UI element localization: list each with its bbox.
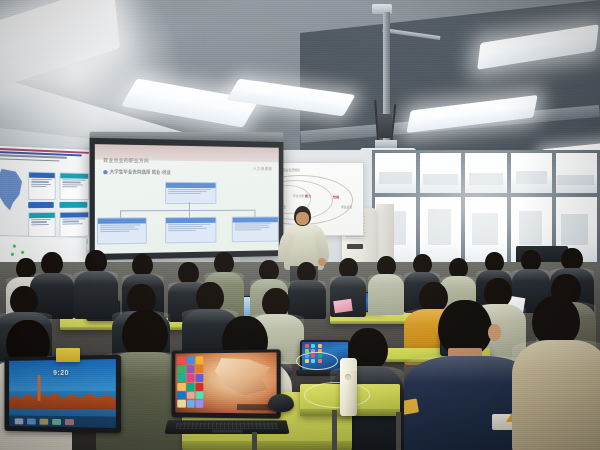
classroom-scene: 职业生涯规划 价值观 兴趣爱好 能力 性格 环境分析 自我认知 目标设定 行动计… (0, 0, 600, 450)
slide-connector (189, 210, 190, 217)
yellow-box-item (56, 348, 80, 362)
whiteboard-red-label: 能力 (305, 193, 311, 198)
student-khaki-shirt (512, 296, 600, 450)
slide-child-box (232, 216, 279, 242)
desk-leg (332, 410, 337, 450)
poster-box-header (29, 173, 55, 179)
coiled-cable (304, 382, 370, 408)
student-back (368, 256, 404, 314)
thermos-cap (340, 358, 357, 371)
slide-child-box (97, 217, 147, 244)
slide-connector (120, 210, 255, 211)
slide-box-header (233, 217, 278, 222)
slide-box-header (166, 183, 215, 188)
magnet-icon (13, 245, 16, 248)
laptop-base (164, 420, 289, 434)
desktop-icons[interactable] (178, 356, 203, 408)
slide-connector (120, 210, 121, 217)
projection-screen: 就业创业的职业方向 人力资源部 大学生毕业去向选择 就业·创业 (90, 138, 284, 260)
window-pane (556, 153, 597, 193)
desk-leg (396, 412, 401, 450)
bullet-icon (103, 170, 107, 174)
slide-root-box (165, 182, 216, 204)
poster-bar (59, 202, 87, 208)
slide-title: 就业创业的职业方向 (103, 158, 149, 165)
laptop-screen: 9:20 (9, 359, 116, 428)
slide-connector (189, 202, 190, 210)
taskbar[interactable] (9, 415, 116, 427)
magnet-icon (21, 251, 24, 254)
poster-box (28, 212, 55, 239)
slide-connector (255, 210, 256, 217)
slide-box-header (98, 218, 146, 223)
slide-child-box (165, 217, 216, 244)
laptop-keyboard[interactable] (175, 423, 278, 429)
poster-map-graphic (0, 169, 23, 211)
computer-mouse[interactable] (268, 394, 294, 412)
window-pane (511, 153, 552, 193)
presentation-slide: 就业创业的职业方向 人力资源部 大学生毕业去向选择 就业·创业 (95, 144, 279, 254)
whiteboard-red-label: 性格 (333, 194, 339, 199)
thermos-button-icon (345, 374, 351, 380)
laptop-screen (176, 353, 276, 414)
poster-box-header (60, 213, 88, 218)
window-pane (375, 153, 416, 193)
poster-box-header (29, 213, 55, 218)
whiteboard-gray-label: 环境分析 (293, 194, 304, 198)
laptop-lockscreen-harbor[interactable]: 9:20 (4, 355, 121, 433)
white-thermos-bottle[interactable] (340, 358, 357, 416)
poster-box (59, 172, 89, 200)
poster-box (59, 212, 89, 238)
poster-header-text (0, 148, 93, 168)
projector-junction-box (378, 114, 392, 138)
poster-box-header (60, 173, 88, 178)
pink-handout (333, 299, 352, 313)
window-pane (465, 153, 506, 193)
slide-bullet-text: 大学生毕业去向选择 就业·创业 (110, 169, 171, 176)
whiteboard-gray-label: 评估反馈 (341, 205, 352, 209)
laptop-trackpad[interactable] (212, 430, 242, 433)
laptop-anime-wallpaper[interactable] (172, 349, 281, 418)
lecturer-face (296, 212, 309, 225)
slide-box-header (166, 218, 215, 223)
lockscreen-clock: 9:20 (9, 370, 116, 378)
ac-control-panel (347, 244, 363, 249)
whiteboard-top-label: 职业生涯规划 (283, 168, 300, 172)
poster-box (28, 172, 55, 200)
slide-brand-mark: 人力资源部 (253, 167, 272, 172)
magnet-icon (11, 253, 14, 256)
window-pane (420, 153, 461, 193)
desk-leg (252, 432, 257, 450)
poster-bar (28, 202, 54, 208)
